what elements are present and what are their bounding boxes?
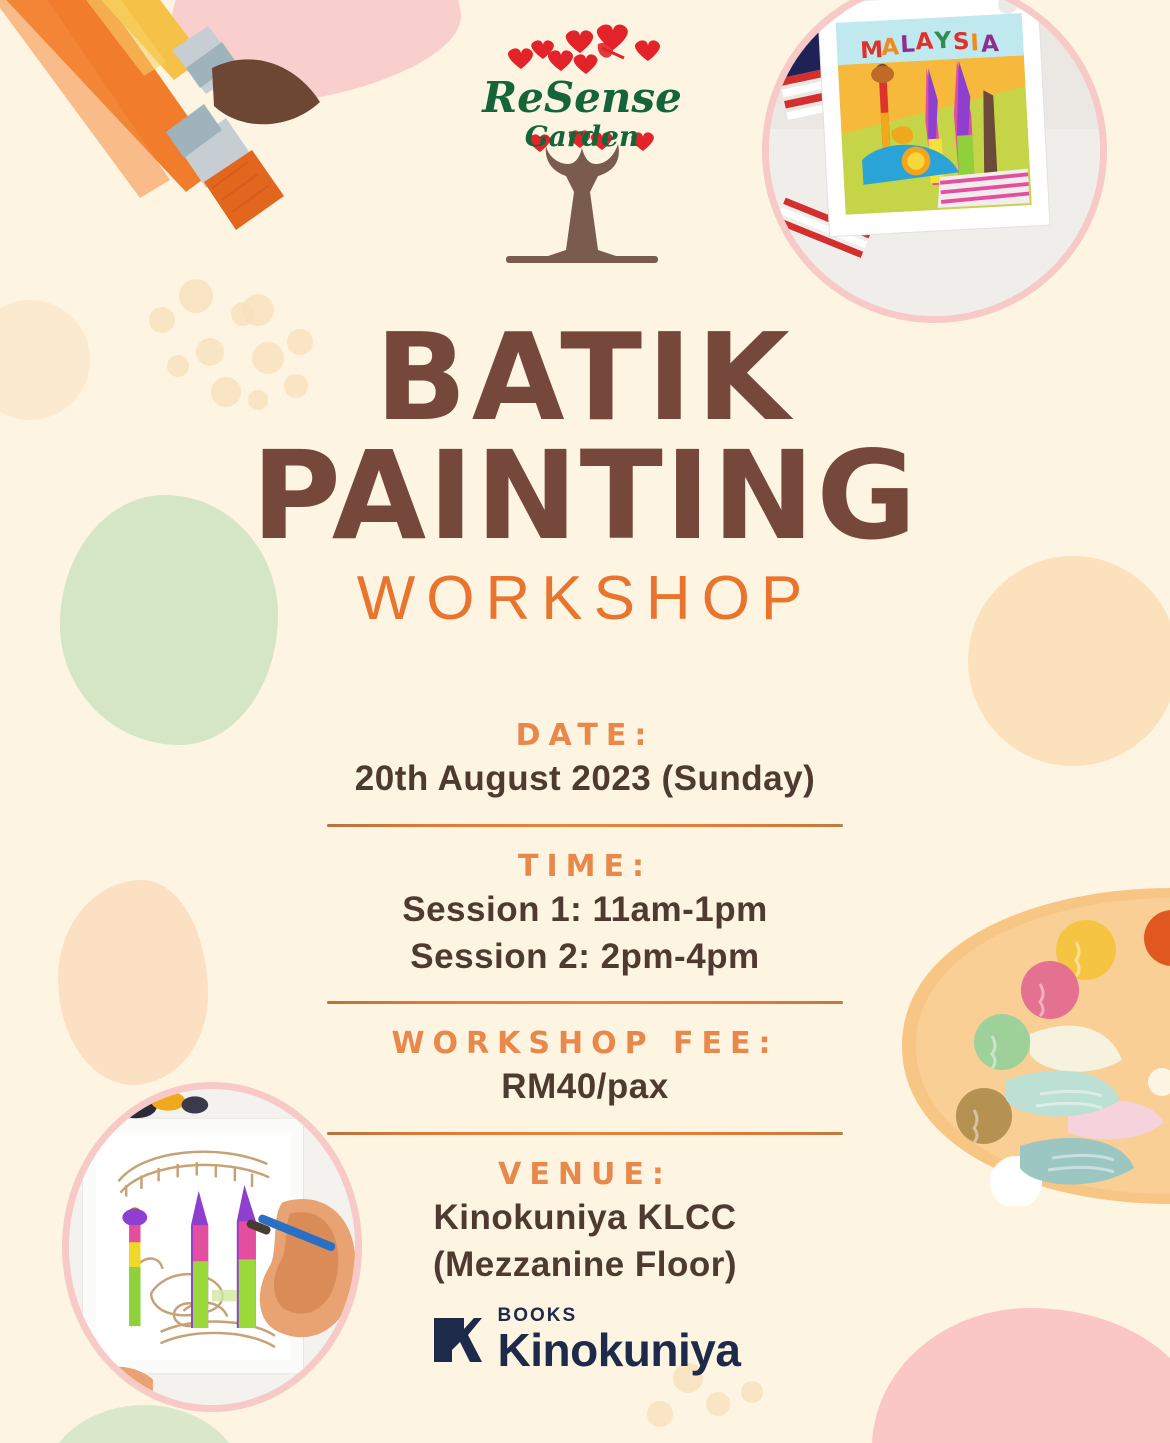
divider-1 (327, 824, 843, 827)
svg-text:A: A (980, 31, 999, 58)
venue-line-2: (Mezzanine Floor) (285, 1243, 885, 1288)
paint-palette-illustration (872, 886, 1170, 1206)
paintbrush-illustration (0, 0, 390, 320)
kinokuniya-logo: BOOKS Kinokuniya (0, 1306, 1170, 1373)
venue-line-1: Kinokuniya KLCC (285, 1196, 885, 1241)
svg-text:Y: Y (933, 28, 952, 55)
venue-label: VENUE: (285, 1155, 885, 1194)
svg-text:L: L (900, 32, 916, 59)
svg-text:A: A (915, 29, 934, 56)
date-value: 20th August 2023 (Sunday) (285, 757, 885, 802)
detail-block-date: DATE: 20th August 2023 (Sunday) (285, 716, 885, 802)
detail-block-fee: WORKSHOP FEE: RM40/pax (285, 1024, 885, 1110)
kinokuniya-k-mark (430, 1312, 486, 1368)
palette-well-brown (956, 1088, 1012, 1144)
divider-3 (327, 1132, 843, 1135)
detail-block-time: TIME: Session 1: 11am-1pm Session 2: 2pm… (285, 847, 885, 980)
palette-well-green (974, 1014, 1030, 1070)
title-subtitle-workshop: WORKSHOP (0, 563, 1170, 634)
time-session-1: Session 1: 11am-1pm (285, 888, 885, 933)
title-line-painting: PAINTING (0, 434, 1170, 558)
divider-2 (327, 1001, 843, 1004)
decor-blob-peach-left (58, 880, 208, 1085)
tree-trunk-icon (506, 144, 658, 263)
svg-text:S: S (952, 29, 970, 56)
paint-dot (706, 1392, 730, 1416)
poster-root: ReSense Garden (0, 0, 1170, 1443)
fee-label: WORKSHOP FEE: (285, 1024, 885, 1063)
photo-framed-batik-artwork: MA LA YS IA (762, 0, 1107, 323)
svg-text:I: I (970, 30, 980, 56)
paint-dot (741, 1381, 763, 1403)
logo-brand-line-1: ReSense (481, 73, 682, 122)
svg-text:A: A (881, 34, 900, 61)
kinokuniya-books-label: BOOKS (498, 1306, 741, 1325)
page-title: BATIK PAINTING WORKSHOP (0, 318, 1170, 634)
event-details: DATE: 20th August 2023 (Sunday) TIME: Se… (285, 716, 885, 1288)
palette-well-pink (1021, 961, 1079, 1019)
time-session-2: Session 2: 2pm-4pm (285, 935, 885, 980)
resense-garden-logo: ReSense Garden (462, 22, 702, 267)
paint-dot (647, 1401, 673, 1427)
white-picture-frame: MA LA YS IA (817, 0, 1050, 237)
kinokuniya-brand-name: Kinokuniya (498, 1327, 741, 1373)
detail-block-venue: VENUE: Kinokuniya KLCC (Mezzanine Floor) (285, 1155, 885, 1288)
time-label: TIME: (285, 847, 885, 886)
date-label: DATE: (285, 716, 885, 755)
fee-value: RM40/pax (285, 1065, 885, 1110)
title-line-batik: BATIK (0, 318, 1170, 440)
